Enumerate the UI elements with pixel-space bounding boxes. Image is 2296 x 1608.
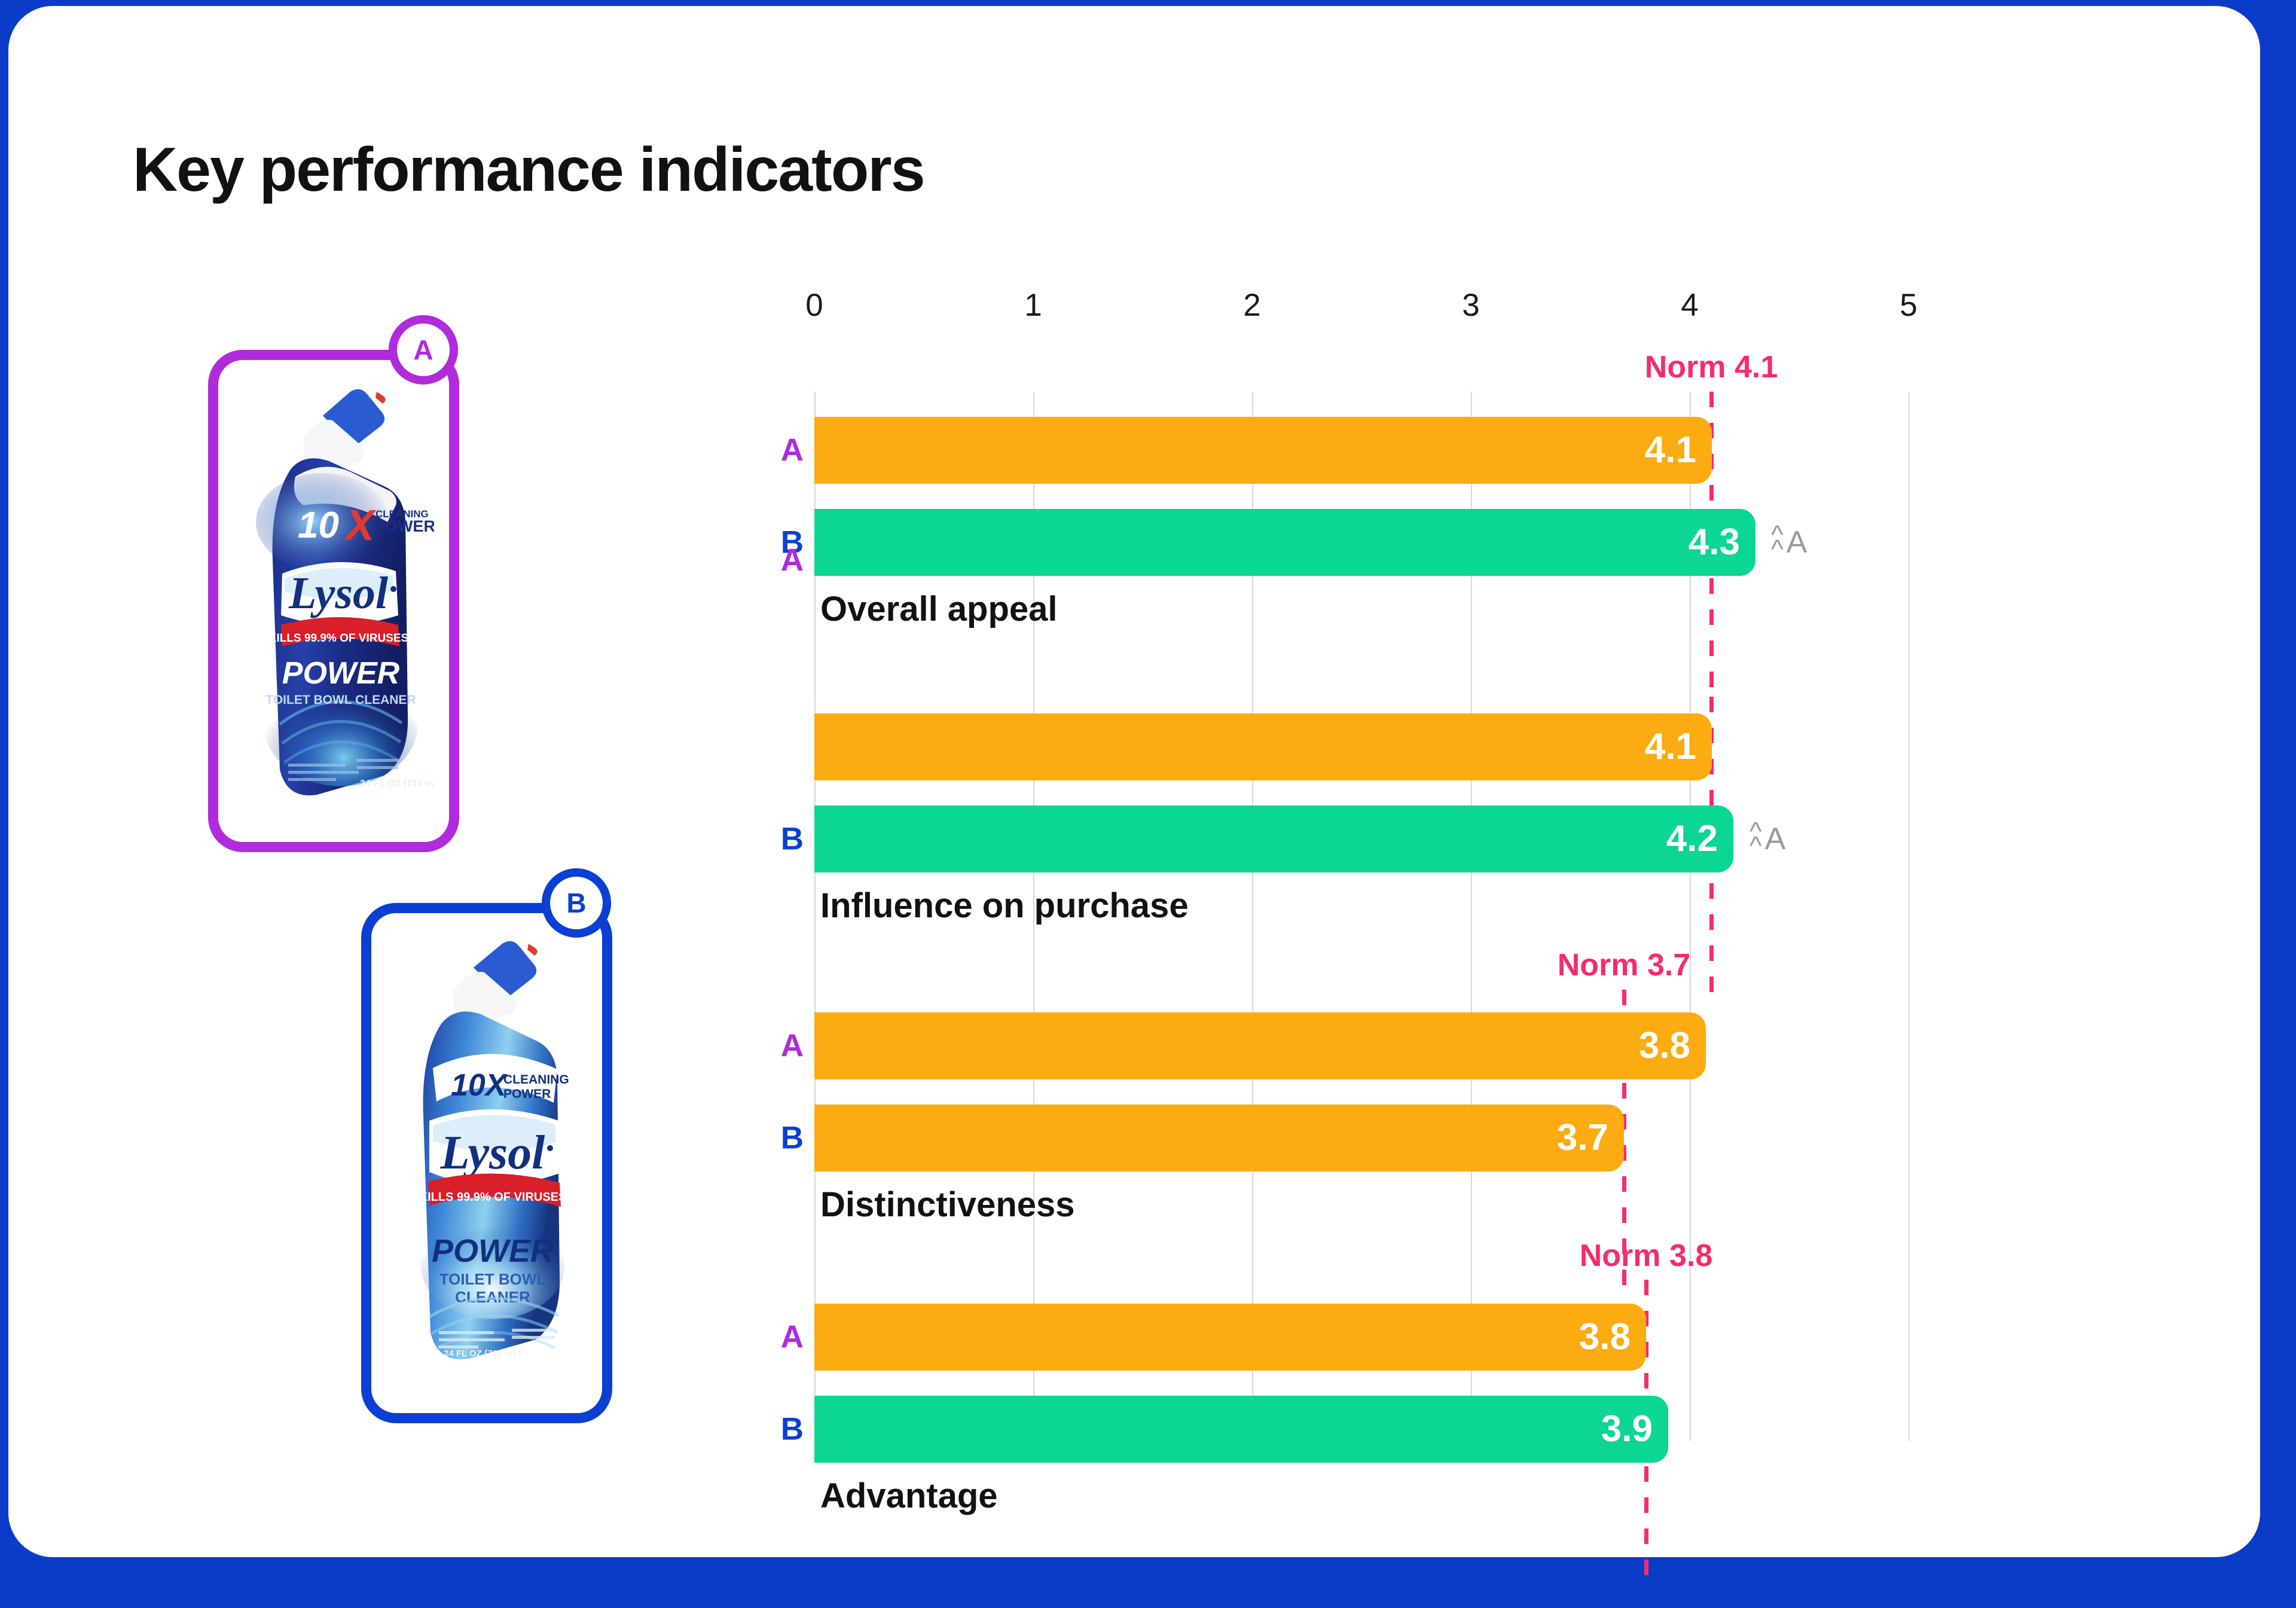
significance-marker-b-influence-on-purchase: ^^ A bbox=[1750, 821, 1786, 857]
svg-text:X: X bbox=[343, 502, 377, 550]
product-b-badge: B bbox=[542, 868, 611, 938]
bar-a-advantage[interactable]: 3.8 bbox=[814, 1304, 1646, 1371]
kpi-bar-chart: 0 1 2 3 4 5 Norm 4.1 A 4.1 B 4.3 ^^ A Ov… bbox=[755, 287, 2213, 1447]
xtick-2: 2 bbox=[1243, 287, 1260, 324]
bar-a-overall-appeal-value: 4.1 bbox=[1645, 432, 1712, 469]
category-label-influence-on-purchase: Influence on purchase bbox=[820, 886, 1189, 926]
svg-text:Lysol: Lysol bbox=[288, 568, 388, 618]
series-label-b-advantage: B bbox=[767, 1411, 804, 1448]
lysol-bottle-b-illustration: 10X CLEANING POWER Lysol KILLS 99.9% OF … bbox=[386, 934, 587, 1392]
norm-label-advantage: Norm 3.8 bbox=[1580, 1238, 1713, 1274]
lysol-bottle-a-illustration: 10 X CLEANING POWER Lysol KILLS 99.9% OF… bbox=[233, 381, 434, 823]
bar-b-distinctiveness-value: 3.7 bbox=[1557, 1119, 1624, 1157]
svg-text:10: 10 bbox=[298, 505, 339, 546]
bar-a-distinctiveness-value: 3.8 bbox=[1639, 1027, 1706, 1064]
xtick-4: 4 bbox=[1681, 287, 1698, 324]
svg-text:24 FL OZ (710 mL): 24 FL OZ (710 mL) bbox=[360, 779, 434, 789]
product-card-b[interactable]: B bbox=[361, 903, 612, 1423]
product-card-a[interactable]: A bbox=[208, 350, 459, 852]
xtick-3: 3 bbox=[1462, 287, 1479, 324]
svg-text:KILLS 99.9% OF VIRUSES: KILLS 99.9% OF VIRUSES bbox=[268, 632, 408, 645]
bar-a-influence-on-purchase-value: 4.1 bbox=[1645, 728, 1712, 765]
bar-a-advantage-value: 3.8 bbox=[1579, 1319, 1646, 1356]
product-b-badge-label: B bbox=[566, 887, 586, 919]
xtick-0: 0 bbox=[805, 287, 823, 324]
gridline-5 bbox=[1909, 392, 1910, 1441]
bar-b-overall-appeal[interactable]: 4.3 bbox=[814, 509, 1755, 576]
category-label-advantage: Advantage bbox=[820, 1476, 998, 1516]
double-chevron-up-icon: ^^ bbox=[1771, 528, 1784, 557]
svg-text:TOILET BOWL: TOILET BOWL bbox=[439, 1270, 546, 1288]
content-card: Key performance indicators A bbox=[8, 6, 2260, 1557]
significance-marker-b-overall-appeal: ^^ A bbox=[1771, 524, 1808, 560]
series-label-a-overall-appeal: A bbox=[767, 432, 804, 469]
series-label-a-advantage: A bbox=[767, 1319, 804, 1356]
bar-b-advantage[interactable]: 3.9 bbox=[814, 1396, 1668, 1463]
bar-b-distinctiveness[interactable]: 3.7 bbox=[814, 1104, 1624, 1171]
bar-b-influence-on-purchase[interactable]: 4.2 bbox=[814, 805, 1733, 872]
category-label-distinctiveness: Distinctiveness bbox=[820, 1185, 1075, 1225]
norm-label-distinctiveness: Norm 3.7 bbox=[1558, 947, 1691, 983]
series-label-a-influence-on-purchase: A bbox=[767, 542, 804, 579]
norm-label-overall-appeal: Norm 4.1 bbox=[1645, 349, 1778, 385]
svg-text:POWER: POWER bbox=[374, 517, 434, 535]
xtick-5: 5 bbox=[1900, 287, 1917, 324]
series-label-b-influence-on-purchase: B bbox=[767, 821, 804, 858]
product-b-image: 10X CLEANING POWER Lysol KILLS 99.9% OF … bbox=[386, 934, 587, 1392]
significance-target-overall-appeal: A bbox=[1787, 524, 1808, 560]
slide-frame: Key performance indicators A bbox=[0, 0, 2296, 1608]
bar-a-distinctiveness[interactable]: 3.8 bbox=[814, 1012, 1706, 1079]
series-label-a-distinctiveness: A bbox=[767, 1028, 804, 1064]
bar-b-overall-appeal-value: 4.3 bbox=[1689, 524, 1755, 561]
svg-text:Lysol: Lysol bbox=[440, 1127, 546, 1179]
svg-text:POWER: POWER bbox=[432, 1233, 554, 1269]
page-title: Key performance indicators bbox=[133, 135, 924, 206]
bar-a-influence-on-purchase[interactable]: 4.1 bbox=[814, 713, 1712, 780]
svg-text:24 FL OZ (710 mL): 24 FL OZ (710 mL) bbox=[444, 1348, 521, 1359]
double-chevron-up-icon: ^^ bbox=[1750, 825, 1763, 853]
product-a-badge: A bbox=[389, 315, 458, 385]
bar-b-influence-on-purchase-value: 4.2 bbox=[1666, 820, 1733, 858]
svg-text:TOILET BOWL CLEANER: TOILET BOWL CLEANER bbox=[265, 693, 416, 707]
product-a-image: 10 X CLEANING POWER Lysol KILLS 99.9% OF… bbox=[233, 381, 434, 823]
significance-target-influence-on-purchase: A bbox=[1765, 821, 1787, 857]
series-label-b-distinctiveness: B bbox=[767, 1120, 804, 1157]
svg-text:CLEANING: CLEANING bbox=[503, 1073, 569, 1087]
xtick-1: 1 bbox=[1024, 287, 1042, 324]
product-a-badge-label: A bbox=[413, 334, 433, 366]
svg-text:KILLS 99.9% OF VIRUSES: KILLS 99.9% OF VIRUSES bbox=[419, 1191, 567, 1204]
svg-text:10X: 10X bbox=[451, 1068, 508, 1103]
category-label-overall-appeal: Overall appeal bbox=[820, 589, 1058, 629]
bar-a-overall-appeal[interactable]: 4.1 bbox=[814, 417, 1712, 484]
bar-b-advantage-value: 3.9 bbox=[1601, 1411, 1668, 1448]
svg-text:POWER: POWER bbox=[503, 1087, 551, 1101]
svg-text:POWER: POWER bbox=[282, 656, 400, 691]
